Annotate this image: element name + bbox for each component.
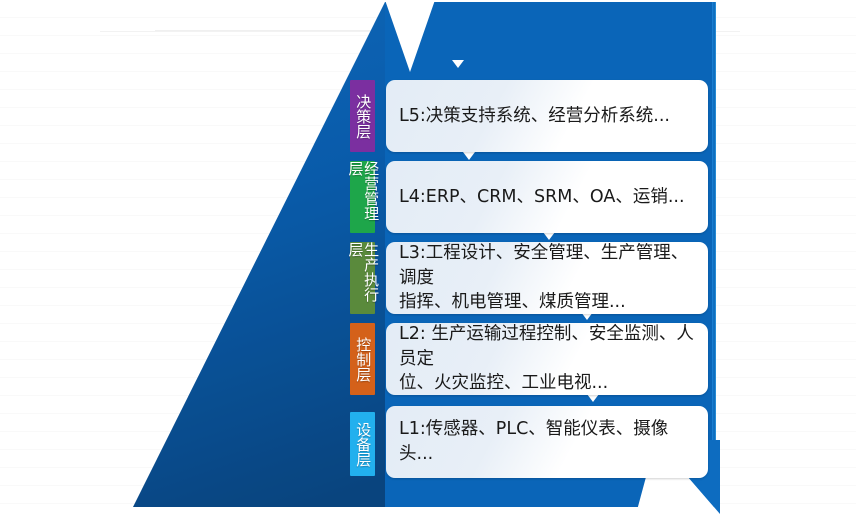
layer-card-l3-text: L3:工程设计、安全管理、生产管理、调度 指挥、机电管理、煤质管理... [399, 241, 695, 316]
layer-tab-l1-label: 设备层 [355, 422, 371, 467]
layer-card-l1-text: L1:传感器、PLC、智能仪表、摄像头... [399, 417, 695, 467]
layer-card-l5[interactable]: L5:决策支持系统、经营分析系统... [386, 80, 708, 152]
diagram-canvas: 决策层 经营管理层 生产执行层 控制层 设备层 L5:决策支持系统、经营分析系统… [0, 0, 856, 514]
layer-tab-l5-label: 决策层 [355, 94, 371, 139]
layer-tab-l5[interactable]: 决策层 [350, 80, 375, 152]
layer-card-l1[interactable]: L1:传感器、PLC、智能仪表、摄像头... [386, 406, 708, 478]
layer-tab-l4[interactable]: 经营管理层 [350, 161, 375, 233]
layer-card-l4-text: L4:ERP、CRM、SRM、OA、运销... [399, 185, 685, 210]
layer-card-l2[interactable]: L2: 生产运输过程控制、安全监测、人员定 位、火灾监控、工业电视... [386, 323, 708, 395]
layer-tab-l3-label: 生产执行层 [347, 242, 378, 314]
layer-card-l5-text: L5:决策支持系统、经营分析系统... [399, 104, 670, 129]
layer-card-column: L5:决策支持系统、经营分析系统... L4:ERP、CRM、SRM、OA、运销… [386, 0, 716, 514]
layer-tab-l4-label: 经营管理层 [347, 161, 378, 233]
layer-tab-l1[interactable]: 设备层 [350, 412, 375, 476]
layer-tab-column: 决策层 经营管理层 生产执行层 控制层 设备层 [350, 0, 376, 514]
layer-tab-l2-label: 控制层 [355, 337, 371, 382]
layer-tab-l3[interactable]: 生产执行层 [350, 242, 375, 314]
layer-card-l2-text: L2: 生产运输过程控制、安全监测、人员定 位、火灾监控、工业电视... [399, 322, 695, 397]
layer-card-l3[interactable]: L3:工程设计、安全管理、生产管理、调度 指挥、机电管理、煤质管理... [386, 242, 708, 314]
layer-card-l4[interactable]: L4:ERP、CRM、SRM、OA、运销... [386, 161, 708, 233]
layer-tab-l2[interactable]: 控制层 [350, 323, 375, 395]
